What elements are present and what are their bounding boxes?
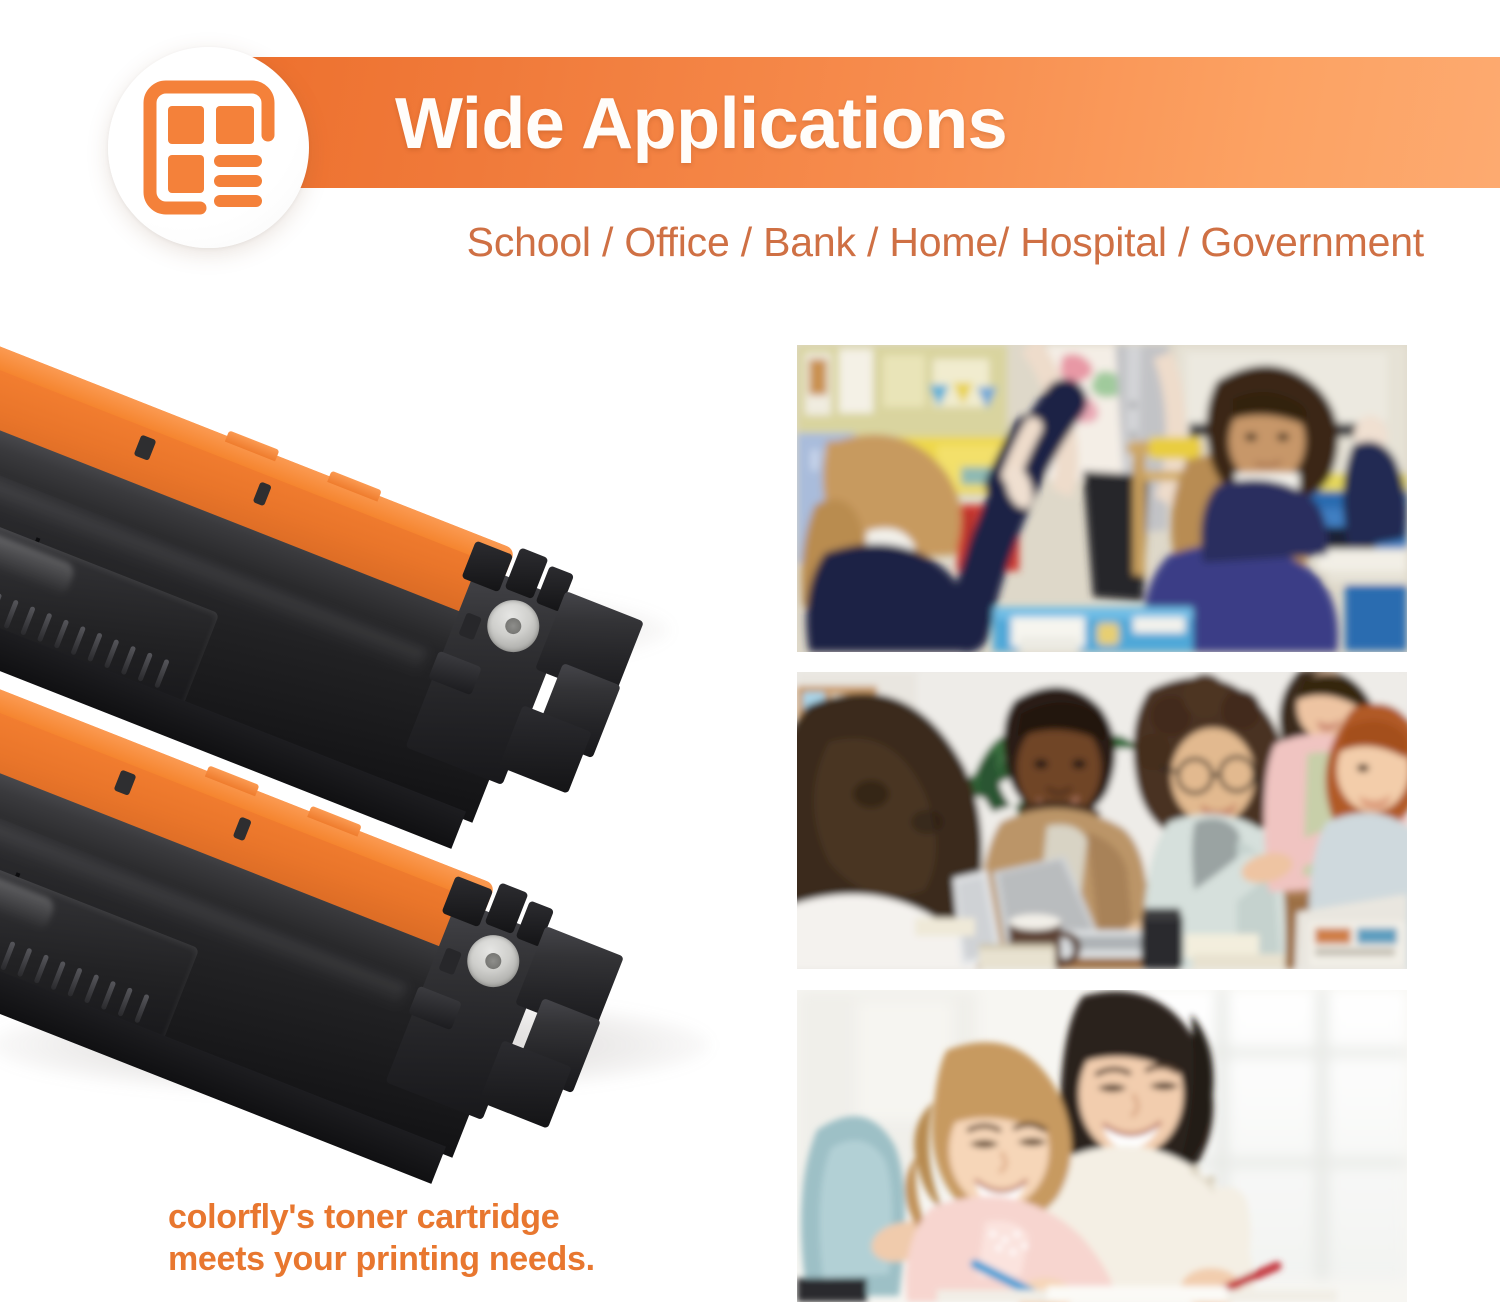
- badge-circle: [108, 47, 309, 248]
- photo-office: [797, 672, 1407, 969]
- product-caption: colorfly's toner cartridge meets your pr…: [168, 1196, 808, 1280]
- applications-subtitle: School / Office / Bank / Home/ Hospital …: [200, 214, 1424, 270]
- photo-home-canvas: [797, 990, 1407, 1302]
- photo-home: [797, 990, 1407, 1302]
- caption-line-2: meets your printing needs.: [168, 1238, 808, 1280]
- document-layout-icon: [142, 79, 276, 216]
- photo-office-canvas: [797, 672, 1407, 969]
- photo-classroom-canvas: [797, 345, 1407, 652]
- caption-line-1: colorfly's toner cartridge: [168, 1196, 808, 1238]
- photo-classroom: [797, 345, 1407, 652]
- product-image-toner-cartridges: [0, 295, 760, 1195]
- page-title: Wide Applications: [395, 66, 1395, 181]
